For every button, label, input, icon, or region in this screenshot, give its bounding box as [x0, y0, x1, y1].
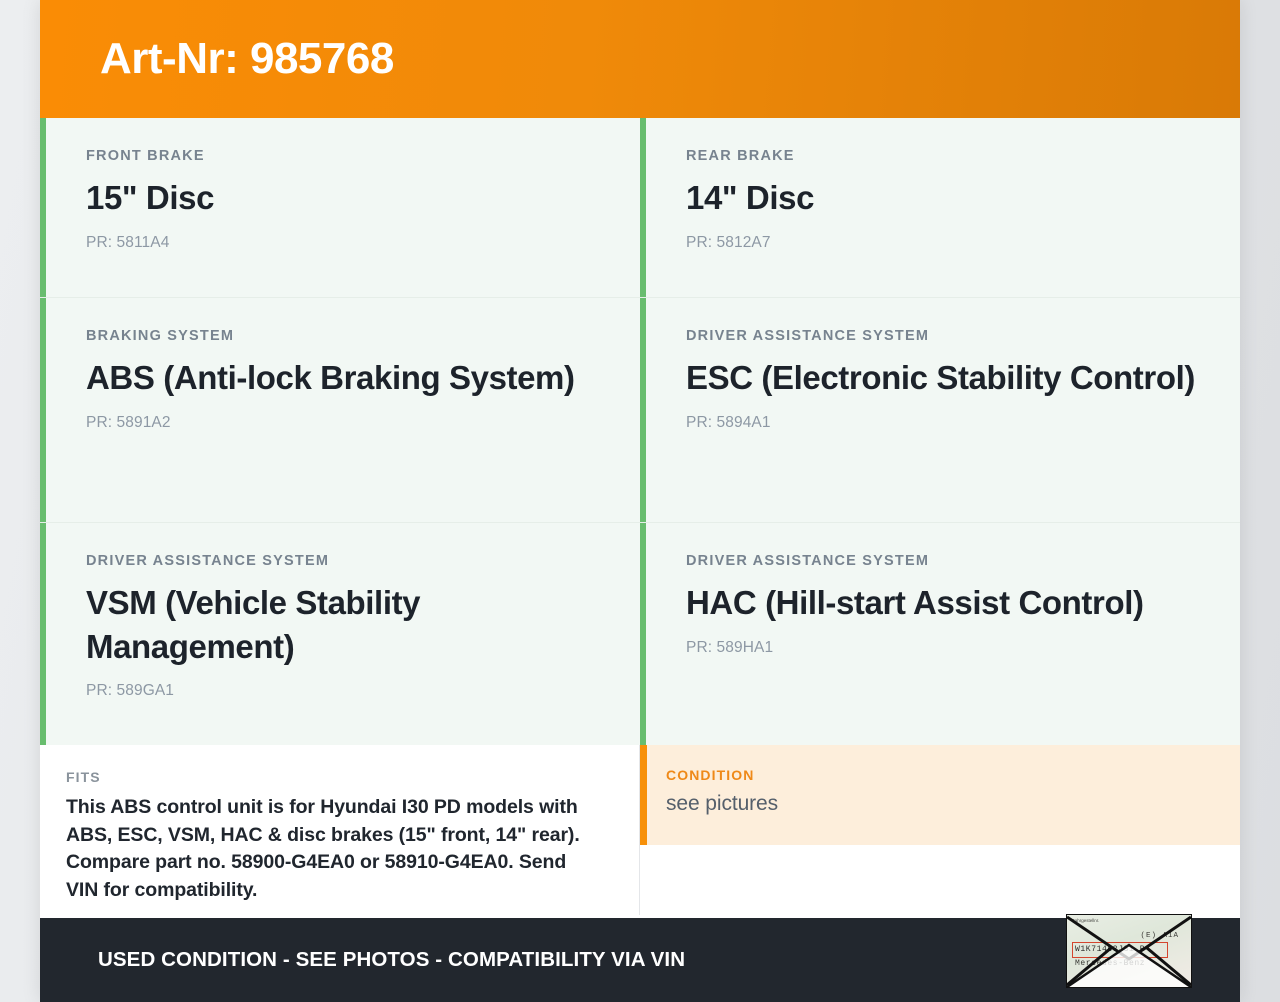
envelope-flap-icon: [1067, 915, 1191, 987]
footer-bar: USED CONDITION - SEE PHOTOS - COMPATIBIL…: [40, 918, 1240, 1002]
page-title: Art-Nr: 985768: [100, 37, 394, 81]
condition-label: CONDITION: [666, 767, 1216, 783]
spec-pr-code: PR: 5894A1: [686, 414, 1210, 432]
spec-value: ESC (Electronic Stability Control): [686, 356, 1210, 400]
spec-cell-hac: DRIVER ASSISTANCE SYSTEM HAC (Hill-start…: [640, 523, 1240, 745]
spec-value: 15" Disc: [86, 176, 610, 220]
spec-pr-code: PR: 5812A7: [686, 234, 1210, 252]
condition-column: CONDITION see pictures: [640, 745, 1240, 915]
spec-cell-rear-brake: REAR BRAKE 14" Disc PR: 5812A7: [640, 118, 1240, 298]
card-header: Art-Nr: 985768: [40, 0, 1240, 118]
condition-value: see pictures: [666, 792, 1216, 816]
spec-label: BRAKING SYSTEM: [86, 328, 610, 344]
spec-cell-esc: DRIVER ASSISTANCE SYSTEM ESC (Electronic…: [640, 298, 1240, 523]
spec-pr-code: PR: 589HA1: [686, 639, 1210, 657]
spec-cell-braking-system: BRAKING SYSTEM ABS (Anti-lock Braking Sy…: [40, 298, 640, 523]
envelope-icon: Fahrgestellnr. (E) A1A W1K71463J31 B Mer…: [1066, 914, 1192, 988]
spec-value: HAC (Hill-start Assist Control): [686, 581, 1210, 625]
product-spec-card: Art-Nr: 985768 FRONT BRAKE 15" Disc PR: …: [40, 0, 1240, 1002]
fits-label: FITS: [66, 769, 599, 785]
spec-label: DRIVER ASSISTANCE SYSTEM: [686, 553, 1210, 569]
fits-panel: FITS This ABS control unit is for Hyunda…: [40, 745, 640, 915]
spec-label: DRIVER ASSISTANCE SYSTEM: [686, 328, 1210, 344]
spec-grid: FRONT BRAKE 15" Disc PR: 5811A4 REAR BRA…: [40, 118, 1240, 745]
spec-label: DRIVER ASSISTANCE SYSTEM: [86, 553, 610, 569]
spec-label: FRONT BRAKE: [86, 148, 610, 164]
spec-pr-code: PR: 589GA1: [86, 682, 610, 700]
fits-description: This ABS control unit is for Hyundai I30…: [66, 794, 599, 905]
spec-value: VSM (Vehicle Stability Management): [86, 581, 610, 668]
condition-panel: CONDITION see pictures: [640, 745, 1240, 845]
spec-pr-code: PR: 5891A2: [86, 414, 610, 432]
spec-cell-vsm: DRIVER ASSISTANCE SYSTEM VSM (Vehicle St…: [40, 523, 640, 745]
spec-pr-code: PR: 5811A4: [86, 234, 610, 252]
spec-cell-front-brake: FRONT BRAKE 15" Disc PR: 5811A4: [40, 118, 640, 298]
spec-value: 14" Disc: [686, 176, 1210, 220]
spec-value: ABS (Anti-lock Braking System): [86, 356, 610, 400]
notes-section: FITS This ABS control unit is for Hyunda…: [40, 745, 1240, 915]
spec-label: REAR BRAKE: [686, 148, 1210, 164]
footer-text: USED CONDITION - SEE PHOTOS - COMPATIBIL…: [98, 948, 685, 972]
